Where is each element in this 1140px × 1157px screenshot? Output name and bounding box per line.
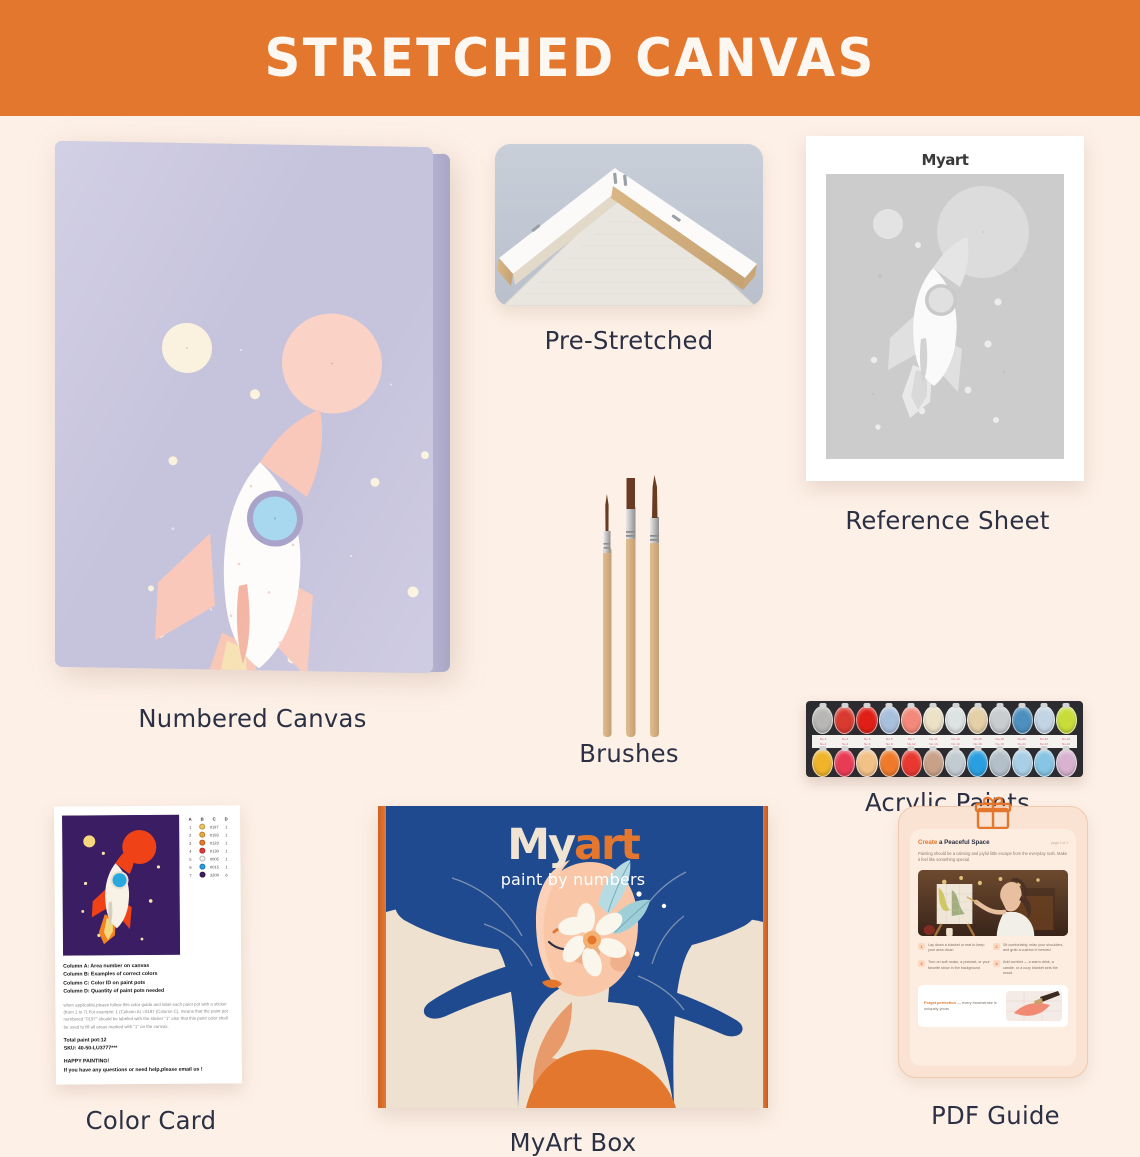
paint-label: No.3No.6	[856, 737, 878, 747]
color-card-support: If you have any questions or need help,p…	[64, 1065, 234, 1074]
paint-pot[interactable]	[856, 706, 877, 734]
pdf-guide-photo	[918, 870, 1068, 936]
legend-color-id: 0129	[208, 840, 220, 845]
legend-color-id: 0005	[208, 856, 220, 861]
pdf-title-orange: Create	[918, 839, 937, 846]
brush-thin	[603, 494, 612, 737]
legend-color-id: 0015	[208, 864, 220, 869]
paint-row-top	[810, 706, 1079, 734]
brush-painting-closeup	[1006, 991, 1062, 1021]
brush-flat	[626, 478, 636, 737]
paint-pot[interactable]	[923, 749, 944, 777]
product-numbered-canvas: Numbered Canvas	[55, 144, 450, 764]
legend-header: C	[208, 816, 220, 821]
legend-color-swatch	[196, 872, 208, 878]
pdf-guide-tips: 1Lay down a blanket or mat to keep your …	[918, 943, 1068, 983]
pdf-title-dark: a Peaceful Space	[937, 839, 989, 846]
legend-quantity: 1	[220, 848, 232, 853]
paint-pot[interactable]	[1056, 749, 1077, 777]
legend-area-number: 7	[184, 872, 196, 877]
tip-text: Turn on soft music, a podcast, or your f…	[928, 960, 990, 977]
product-myart-box: Myart paint by numbers MyArt Box	[378, 806, 768, 1140]
rocket-color-artwork	[62, 815, 180, 956]
legend-color-id: 0130	[208, 848, 220, 853]
paint-label: No.2No.4	[834, 737, 856, 747]
myart-box-mockup: Myart paint by numbers	[378, 806, 768, 1108]
paint-pot[interactable]	[812, 749, 833, 777]
pdf-tip-item: 2Sit comfortably, relax your shoulders, …	[993, 943, 1068, 960]
legend-area-number: 2	[184, 832, 196, 837]
legend-area-number: 4	[184, 848, 196, 853]
color-card-paper: ABCD 10197120193130129140130150005160015…	[54, 805, 242, 1084]
legend-header: B	[196, 817, 208, 822]
pdf-footer-bold: Forget perfection	[924, 1000, 956, 1005]
legend-quantity: 1	[220, 864, 232, 869]
paint-pot[interactable]	[901, 706, 922, 734]
paint-label: No.20No.21	[1011, 737, 1033, 747]
reference-sheet-paper: Myart	[806, 136, 1084, 481]
legend-quantity: 1	[220, 856, 232, 861]
pdf-page-number: page 1 of 1	[1051, 839, 1068, 848]
color-card-artwork	[62, 815, 180, 956]
paint-pot[interactable]	[989, 706, 1010, 734]
pdf-guide-page: Create a Peaceful Space page 1 of 1 Pain…	[910, 829, 1076, 1066]
legend-quantity: 1	[220, 840, 232, 845]
paint-label: No.24No.24	[1055, 737, 1077, 747]
legend-area-number: 3	[184, 840, 196, 845]
paint-pot[interactable]	[812, 706, 833, 734]
legend-color-swatch	[196, 824, 208, 830]
paint-pot[interactable]	[1034, 706, 1055, 734]
tip-number-badge: 4	[993, 960, 1000, 967]
pdf-guide-footer: Forget perfection — every brushstroke is…	[918, 985, 1068, 1027]
tip-text: Sit comfortably, relax your shoulders, a…	[1003, 943, 1065, 954]
legend-color-id: 0197	[208, 824, 220, 829]
product-acrylic-paints: No.1No.2No.2No.4No.3No.6No.5No.8No.7No.1…	[806, 556, 1089, 766]
reference-sheet-artwork	[826, 174, 1064, 459]
pdf-footer-text: Forget perfection — every brushstroke is…	[924, 1000, 1001, 1012]
pdf-guide-frame: Create a Peaceful Space page 1 of 1 Pain…	[898, 806, 1088, 1078]
paint-pot[interactable]	[1012, 706, 1033, 734]
tip-number-badge: 3	[918, 960, 925, 967]
color-card-column-descriptions: Column A: Area number on canvasColumn B:…	[63, 961, 233, 996]
caption-myart-box: MyArt Box	[384, 1128, 762, 1157]
caption-brushes: Brushes	[499, 739, 759, 768]
paint-row-bottom	[810, 749, 1079, 777]
pre-stretched-photo	[495, 144, 763, 306]
paint-pot[interactable]	[967, 749, 988, 777]
tip-text: Lay down a blanket or mat to keep your a…	[928, 943, 990, 954]
paint-label: No.18No.19	[989, 737, 1011, 747]
canvas-frame-corner-illustration	[495, 144, 763, 306]
canvas-front-face	[55, 141, 433, 674]
legend-color-swatch	[196, 848, 208, 854]
canvas-mockup	[55, 144, 450, 674]
paint-label: No.11No.13	[922, 737, 944, 747]
caption-pdf-guide: PDF Guide	[901, 1101, 1090, 1130]
pdf-guide-title: Create a Peaceful Space	[918, 838, 990, 847]
color-card-column-desc: Column D: Quantity of paint pots needed	[63, 987, 233, 997]
paint-pot[interactable]	[967, 706, 988, 734]
caption-color-card: Color Card	[58, 1106, 244, 1135]
paint-pot[interactable]	[879, 706, 900, 734]
product-pdf-guide: Create a Peaceful Space page 1 of 1 Pain…	[898, 806, 1093, 1140]
paint-pot[interactable]	[1034, 749, 1055, 777]
legend-header: D	[220, 816, 232, 821]
box-right-edge	[763, 806, 768, 1108]
paint-pot[interactable]	[1012, 749, 1033, 777]
paint-label: No.7No.12	[900, 737, 922, 747]
legend-quantity: 1	[220, 824, 232, 829]
color-card-sku: SKU: 40-50-LU3777***	[64, 1044, 234, 1053]
paint-label: No.22No.23	[1033, 737, 1055, 747]
paint-pot[interactable]	[856, 749, 877, 777]
legend-color-swatch	[196, 840, 208, 846]
tip-text: Add comfort — a warm drink, a candle, or…	[1003, 960, 1065, 977]
product-contents-grid: Numbered Canvas	[0, 116, 1140, 1140]
tip-number-badge: 1	[918, 943, 925, 950]
paint-pot[interactable]	[945, 706, 966, 734]
product-reference-sheet: Myart	[806, 136, 1089, 516]
legend-color-swatch	[196, 856, 208, 862]
paint-pot[interactable]	[945, 749, 966, 777]
reference-sheet-logo: Myart	[820, 150, 1070, 170]
paint-pot[interactable]	[834, 749, 855, 777]
legend-area-number: 1	[184, 824, 196, 829]
three-brushes-illustration	[495, 461, 763, 751]
paint-label-strip: No.1No.2No.2No.4No.3No.6No.5No.8No.7No.1…	[812, 735, 1077, 748]
woman-painting-photo	[918, 870, 1068, 936]
paint-label: No.5No.8	[878, 737, 900, 747]
paint-pot[interactable]	[1056, 706, 1077, 734]
paint-label: No.15No.16	[967, 737, 989, 747]
legend-header: A	[184, 817, 196, 822]
pdf-guide-intro: Painting should be a calming and joyful …	[918, 851, 1068, 864]
product-color-card: ABCD 10197120193130129140130150005160015…	[55, 806, 247, 1140]
box-artwork	[386, 806, 763, 1108]
color-card-legend: ABCD 10197120193130129140130150005160015…	[184, 814, 233, 954]
rocket-artwork	[55, 141, 433, 674]
page-header: STRETCHED CANVAS	[0, 0, 1140, 116]
tip-number-badge: 2	[993, 943, 1000, 950]
box-left-edge	[378, 806, 386, 1108]
caption-numbered-canvas: Numbered Canvas	[61, 704, 444, 733]
caption-pre-stretched: Pre-Stretched	[499, 326, 759, 355]
brush-pointed	[650, 475, 659, 737]
paint-label: No.13No.14	[944, 737, 966, 747]
pdf-tip-item: 1Lay down a blanket or mat to keep your …	[918, 943, 993, 960]
pdf-tip-item: 4Add comfort — a warm drink, a candle, o…	[993, 960, 1068, 983]
box-woman-illustration	[386, 806, 763, 1108]
paint-pot[interactable]	[901, 749, 922, 777]
brush-set	[495, 461, 763, 751]
legend-area-number: 6	[184, 864, 196, 869]
paint-label: No.1No.2	[812, 737, 834, 747]
legend-headers: ABCD	[184, 816, 232, 821]
legend-area-number: 5	[184, 856, 196, 861]
legend-rows: 1019712019313012914013015000516001517220…	[184, 822, 232, 878]
caption-reference-sheet: Reference Sheet	[810, 506, 1085, 535]
legend-row: 722006	[184, 870, 232, 878]
paint-pot[interactable]	[879, 749, 900, 777]
pdf-tip-item: 3Turn on soft music, a podcast, or your …	[918, 960, 993, 983]
page-title: STRETCHED CANVAS	[264, 28, 875, 89]
legend-color-swatch	[196, 864, 208, 870]
rocket-grayscale-artwork	[826, 174, 1064, 459]
product-brushes: Brushes	[495, 461, 763, 761]
legend-color-id: 0193	[208, 832, 220, 837]
paint-pot[interactable]	[834, 706, 855, 734]
pdf-footer-image	[1006, 991, 1062, 1021]
paint-pot[interactable]	[989, 749, 1010, 777]
color-card-note: when applicable,please follow this color…	[63, 1000, 233, 1030]
legend-color-id: 2200	[208, 872, 220, 877]
legend-color-swatch	[196, 832, 208, 838]
paint-pot[interactable]	[923, 706, 944, 734]
legend-quantity: 1	[220, 832, 232, 837]
product-pre-stretched: Pre-Stretched	[495, 144, 763, 404]
paint-pot-tray: No.1No.2No.2No.4No.3No.6No.5No.8No.7No.1…	[806, 701, 1083, 777]
legend-quantity: 6	[220, 872, 232, 877]
